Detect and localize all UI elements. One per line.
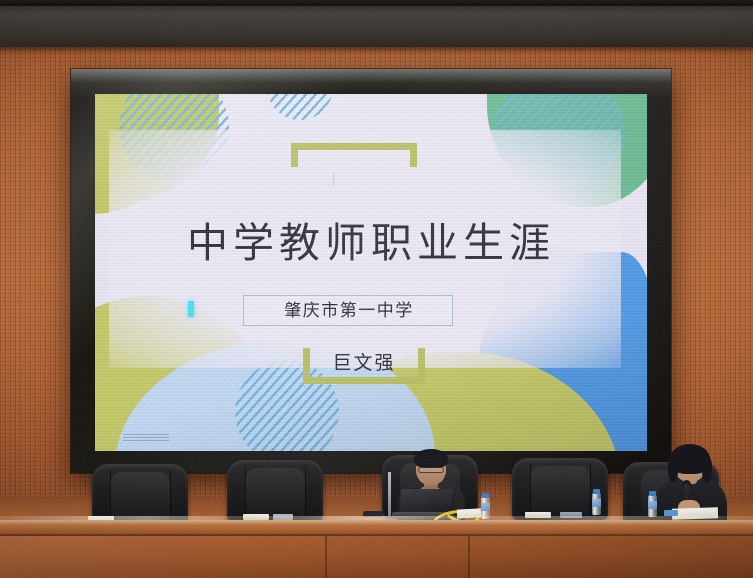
chair-seam	[530, 464, 531, 516]
slide-content: 中学教师职业生涯 肇庆市第一中学 巨文强	[95, 94, 647, 451]
chair-center-panel	[530, 466, 590, 518]
cyan-accent-mark-icon	[188, 301, 194, 317]
slide-subtitle-box: 肇庆市第一中学	[243, 295, 453, 326]
chair-seam	[110, 470, 111, 522]
bottle-label-icon	[592, 499, 601, 507]
bracket-top-decoration-icon	[291, 143, 417, 167]
bottle-cap-icon	[593, 489, 600, 494]
chair-seam	[305, 466, 306, 518]
chair-seam	[590, 464, 591, 516]
bottle-cap-icon	[482, 493, 489, 498]
chair-seam	[245, 466, 246, 518]
desk-panel-seam	[468, 536, 470, 578]
glasses-icon	[418, 467, 444, 473]
desk-panel-seam	[325, 536, 327, 578]
person-hair	[414, 449, 448, 468]
slide-subtitle: 肇庆市第一中学	[244, 296, 454, 327]
projection-screen-bezel: 中学教师职业生涯 肇庆市第一中学 巨文强	[71, 69, 671, 473]
projection-screen: 中学教师职业生涯 肇庆市第一中学 巨文强	[95, 94, 647, 451]
desk-front-sheen	[0, 536, 753, 578]
bottle-label-icon	[648, 501, 657, 509]
ceiling-beam	[0, 6, 753, 47]
person-hair-side	[668, 456, 678, 482]
chair-center-panel	[245, 468, 305, 520]
slide-title: 中学教师职业生涯	[95, 209, 647, 269]
bracket-tick-icon	[333, 172, 334, 186]
slide-presenter-name: 巨文强	[303, 348, 425, 378]
bottle-cap-icon	[649, 491, 656, 496]
microphone-stand-icon	[388, 472, 391, 516]
chair-seam	[170, 470, 171, 522]
person-hair-side	[702, 456, 712, 482]
conference-room-scene: 中学教师职业生涯 肇庆市第一中学 巨文强	[0, 0, 753, 578]
slide-footer-marks-icon	[123, 433, 169, 441]
bottle-label-icon	[481, 503, 490, 511]
